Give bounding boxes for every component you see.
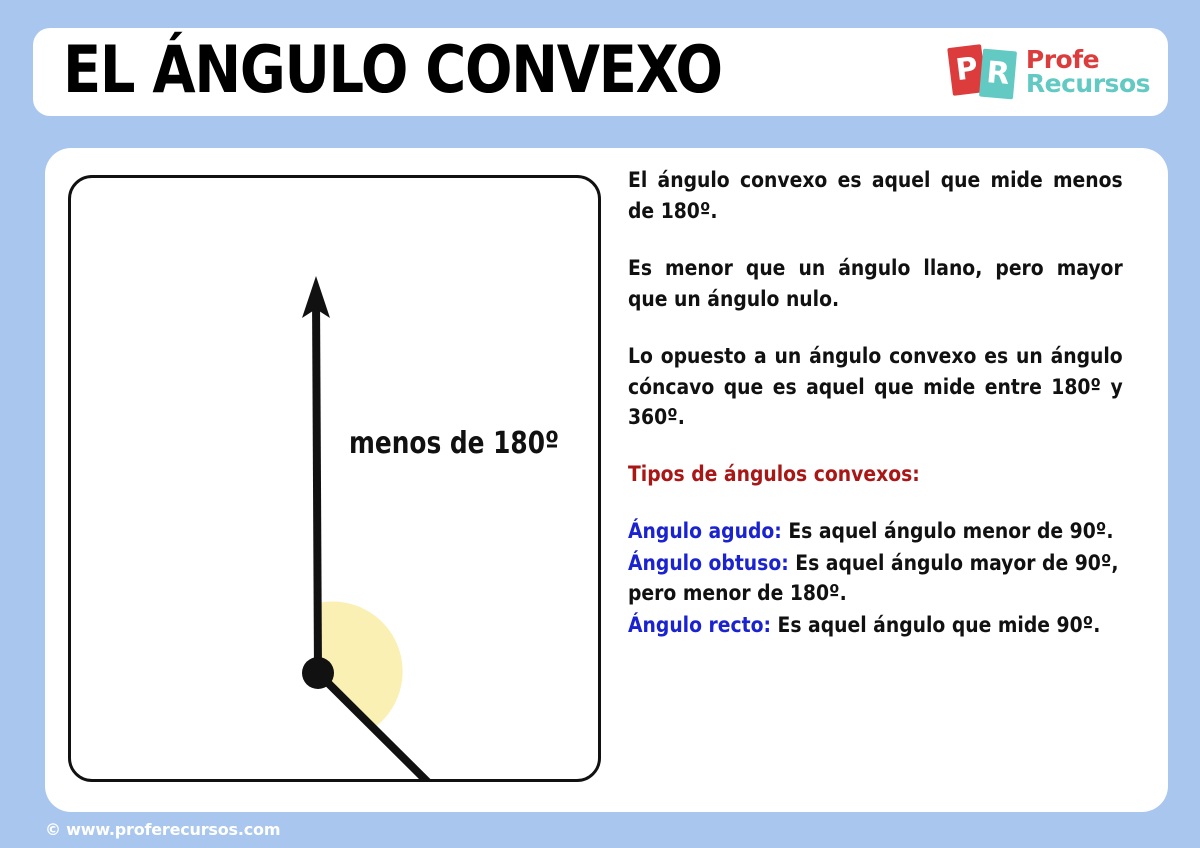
type-term-recto: Ángulo recto: — [628, 613, 771, 638]
description-column: El ángulo convexo es aquel que mide meno… — [628, 166, 1138, 642]
footer-copyright: © www.proferecursos.com — [45, 820, 280, 839]
paragraph-opposite: Lo opuesto a un ángulo convexo es un áng… — [628, 342, 1123, 434]
logo-word-recursos: Recursos — [1026, 72, 1150, 96]
ray-up-line — [316, 296, 318, 673]
type-term-agudo: Ángulo agudo: — [628, 519, 782, 544]
paragraph-definition: El ángulo convexo es aquel que mide meno… — [628, 166, 1123, 227]
logo-marks: P R — [950, 44, 1022, 100]
type-term-obtuso: Ángulo obtuso: — [628, 551, 789, 576]
list-item: Ángulo agudo: Es aquel ángulo menor de 9… — [628, 517, 1123, 548]
types-heading: Tipos de ángulos convexos: — [628, 460, 1123, 491]
page-title: EL ÁNGULO CONVEXO — [63, 38, 722, 103]
logo-wordmark: Profe Recursos — [1026, 48, 1150, 96]
logo-mark-r-icon: R — [979, 49, 1017, 100]
angle-measure-label: menos de 180º — [349, 426, 559, 461]
type-definition-agudo: Es aquel ángulo menor de 90º. — [782, 519, 1114, 544]
list-item: Ángulo recto: Es aquel ángulo que mide 9… — [628, 611, 1123, 642]
convex-angle-figure — [71, 178, 601, 782]
angle-diagram-box: menos de 180º — [68, 175, 601, 782]
paragraph-comparison: Es menor que un ángulo llano, pero mayor… — [628, 254, 1123, 315]
type-definition-recto: Es aquel ángulo que mide 90º. — [771, 613, 1100, 638]
list-item: Ángulo obtuso: Es aquel ángulo mayor de … — [628, 549, 1123, 610]
angle-vertex-dot — [302, 657, 334, 689]
main-card: menos de 180º El ángulo convexo es aquel… — [45, 148, 1168, 812]
header-banner: EL ÁNGULO CONVEXO P R Profe Recursos — [33, 28, 1168, 116]
types-list: Ángulo agudo: Es aquel ángulo menor de 9… — [628, 517, 1123, 641]
logo: P R Profe Recursos — [950, 41, 1150, 103]
